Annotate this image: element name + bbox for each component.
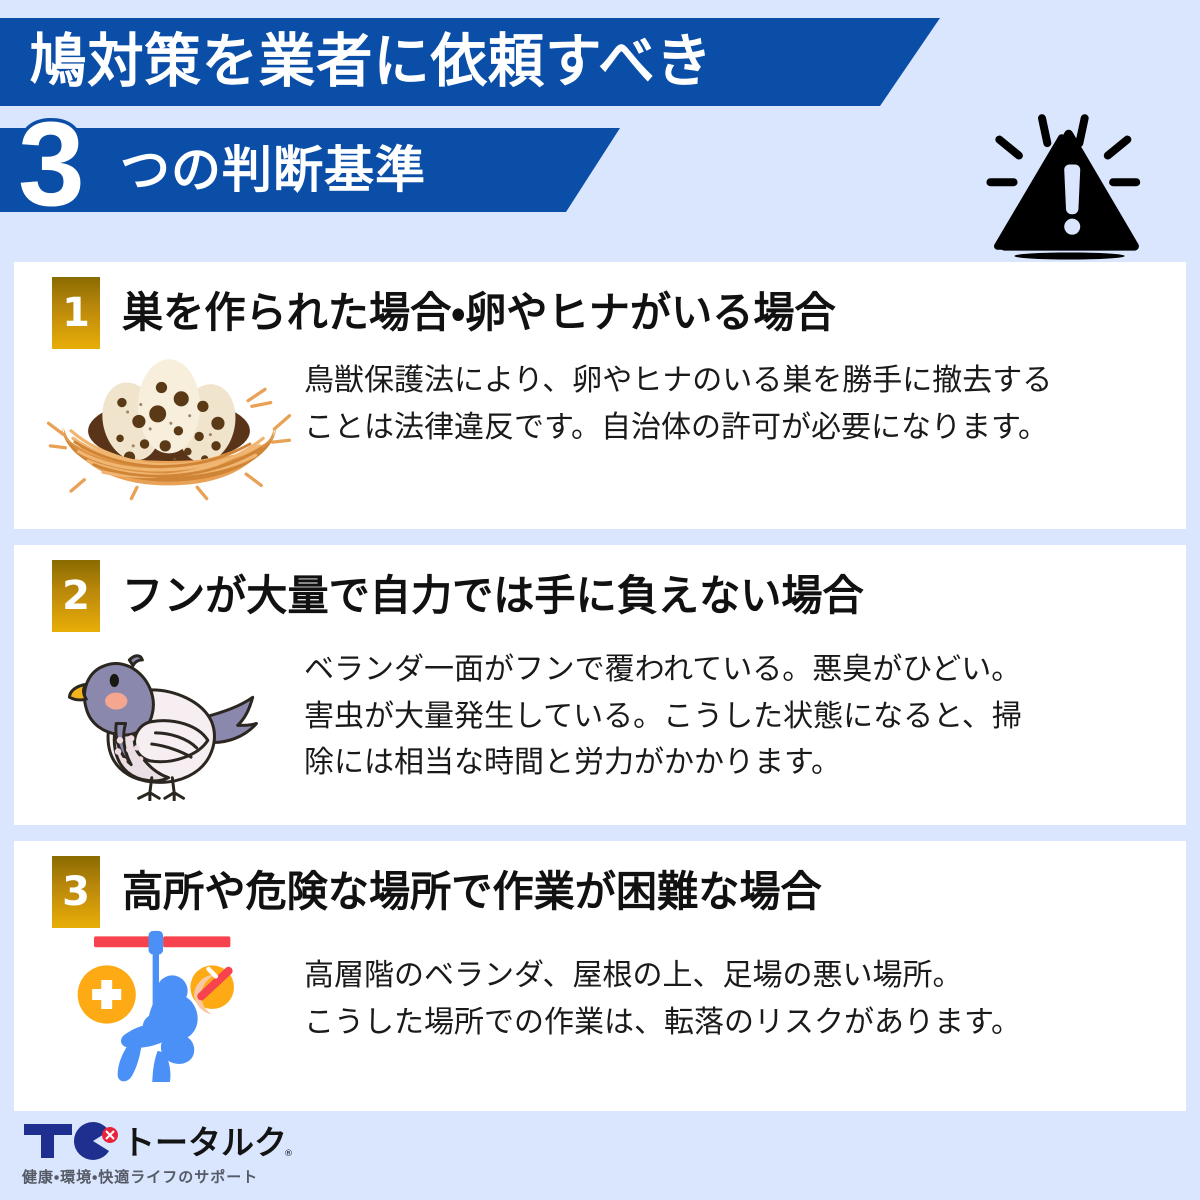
card-body: ベランダ一面がフンで覆われている。悪臭がひどい。 害虫が大量発生している。こうし… xyxy=(14,631,1186,801)
header-big-number: 3 xyxy=(18,104,83,224)
header-banner-line1: 鳩対策を業者に依頼すべき xyxy=(0,18,940,106)
birds-nest-with-eggs-icon xyxy=(34,348,304,508)
card-description: ベランダ一面がフンで覆われている。悪臭がひどい。 害虫が大量発生している。こうし… xyxy=(304,631,1166,787)
desc-line: ベランダ一面がフンで覆われている。悪臭がひどい。 xyxy=(304,647,1148,694)
card-body: 高層階のベランダ、屋根の上、足場の悪い場所。 こうした場所での作業は、転落のリス… xyxy=(14,927,1186,1082)
pigeon-icon xyxy=(34,631,304,801)
rope-access-worker-icon xyxy=(34,927,304,1082)
card-body: 鳥獣保護法により、卵やヒナのいる巣を勝手に撤去する ことは法律違反です。自治体の… xyxy=(14,348,1186,508)
desc-line: ことは法律違反です。自治体の許可が必要になります。 xyxy=(304,405,1148,452)
card-number-badge: 2 xyxy=(52,560,100,632)
card-header: 3 高所や危険な場所で作業が困難な場合 xyxy=(14,841,1186,927)
header-title-line1: 鳩対策を業者に依頼すべき xyxy=(30,33,713,91)
logo-name-text: トータルクリーン xyxy=(122,1123,292,1162)
desc-line: 害虫が大量発生している。こうした状態になると、掃 xyxy=(304,694,1148,741)
card-number-badge: 1 xyxy=(52,277,100,349)
desc-line: 高層階のベランダ、屋根の上、足場の悪い場所。 xyxy=(304,953,1148,1000)
header: 鳩対策を業者に依頼すべき つの判断基準 3 xyxy=(0,0,1200,262)
header-title-line2: つの判断基準 xyxy=(120,145,426,195)
desc-line: こうした場所での作業は、転落のリスクがあります。 xyxy=(304,1000,1148,1047)
card-description: 鳥獣保護法により、卵やヒナのいる巣を勝手に撤去する ことは法律違反です。自治体の… xyxy=(304,348,1166,451)
company-logo[interactable]: トータルクリーン ® xyxy=(22,1118,1200,1162)
logo-tagline: 健康・環境・快適ライフのサポート xyxy=(22,1166,1200,1187)
logo-registered-mark: ® xyxy=(284,1149,292,1159)
criteria-card-list: 1 巣を作られた場合・卵やヒナがいる場合 xyxy=(0,262,1200,1127)
card-title: 巣を作られた場合・卵やヒナがいる場合 xyxy=(122,290,836,336)
card-description: 高層階のベランダ、屋根の上、足場の悪い場所。 こうした場所での作業は、転落のリス… xyxy=(304,927,1166,1046)
logo-wordmark-icon: トータルクリーン ® xyxy=(22,1118,292,1162)
warning-triangle-icon xyxy=(968,104,1148,264)
footer: トータルクリーン ® 健康・環境・快適ライフのサポート xyxy=(0,1108,1200,1200)
criteria-card: 2 フンが大量で自力では手に負えない場合 xyxy=(14,545,1186,825)
desc-line: 鳥獣保護法により、卵やヒナのいる巣を勝手に撤去する xyxy=(304,358,1148,405)
desc-line: 除には相当な時間と労力がかかります。 xyxy=(304,740,1148,787)
criteria-card: 1 巣を作られた場合・卵やヒナがいる場合 xyxy=(14,262,1186,529)
card-header: 2 フンが大量で自力では手に負えない場合 xyxy=(14,545,1186,631)
card-title: 高所や危険な場所で作業が困難な場合 xyxy=(122,869,822,915)
card-title: フンが大量で自力では手に負えない場合 xyxy=(122,573,864,619)
criteria-card: 3 高所や危険な場所で作業が困難な場合 xyxy=(14,841,1186,1111)
card-header: 1 巣を作られた場合・卵やヒナがいる場合 xyxy=(14,262,1186,348)
card-number-badge: 3 xyxy=(52,856,100,928)
header-banner-line2: つの判断基準 xyxy=(0,128,620,212)
